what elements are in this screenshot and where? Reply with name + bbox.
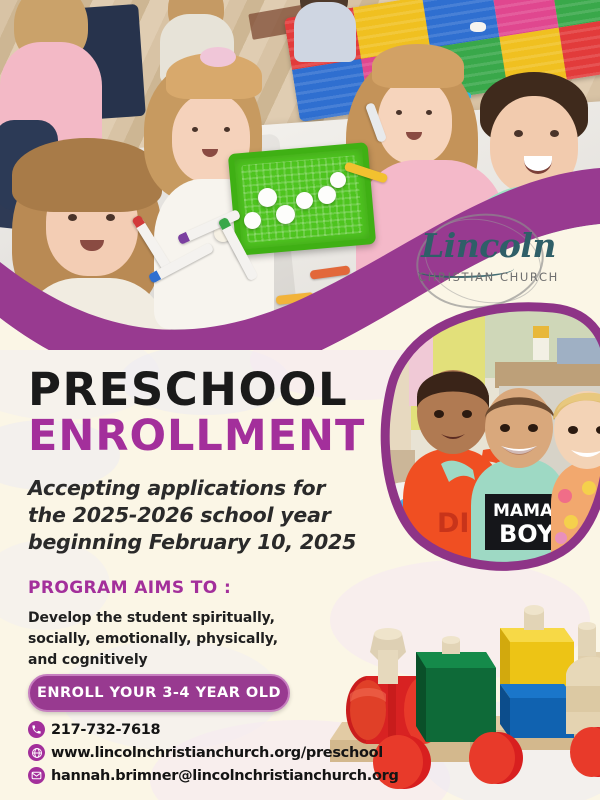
subtitle-line-3: beginning February 10, 2025 [28,529,358,556]
subtitle-block: Accepting applications for the 2025-2026… [28,475,358,556]
phone-number: 217-732-7618 [51,722,160,738]
aims-line-3: and cognitively [28,650,318,671]
enroll-button-label: ENROLL YOUR 3-4 YEAR OLD [37,685,281,701]
svg-text:BOY: BOY [499,520,555,548]
svg-text:DI: DI [437,508,469,539]
logo-subtitle: CHRISTIAN CHURCH [406,270,571,284]
subtitle-line-2: the 2025-2026 school year [28,502,358,529]
contact-row-email[interactable]: hannah.brimner@lincolnchristianchurch.or… [28,764,399,787]
program-aims-title: PROGRAM AIMS TO : [28,578,231,598]
blob-photo-svg: DI MAMA'S BOY [375,300,600,575]
church-logo: Lincoln CHRISTIAN CHURCH [398,218,578,298]
subtitle-line-1: Accepting applications for [28,475,358,502]
page-title: PRESCHOOL [28,368,348,412]
program-aims-body: Develop the student spiritually, sociall… [28,608,318,671]
globe-icon [28,744,45,761]
aims-line-1: Develop the student spiritually, [28,608,318,629]
website-url: www.lincolnchristianchurch.org/preschool [51,745,383,761]
phone-icon [28,721,45,738]
flyer-canvas: Lincoln CHRISTIAN CHURCH [0,0,600,800]
contact-list: 217-732-7618 www.lincolnchristianchurch.… [28,718,399,787]
logo-script-name: Lincoln [406,226,571,265]
aims-line-2: socially, emotionally, physically, [28,629,318,650]
contact-row-phone[interactable]: 217-732-7618 [28,718,399,741]
enroll-button[interactable]: ENROLL YOUR 3-4 YEAR OLD [28,674,290,712]
page-subtitle: ENROLLMENT [28,415,365,458]
email-address: hannah.brimner@lincolnchristianchurch.or… [51,768,399,784]
envelope-icon [28,767,45,784]
three-kids-photo: DI MAMA'S BOY [375,300,600,575]
contact-row-website[interactable]: www.lincolnchristianchurch.org/preschool [28,741,399,764]
